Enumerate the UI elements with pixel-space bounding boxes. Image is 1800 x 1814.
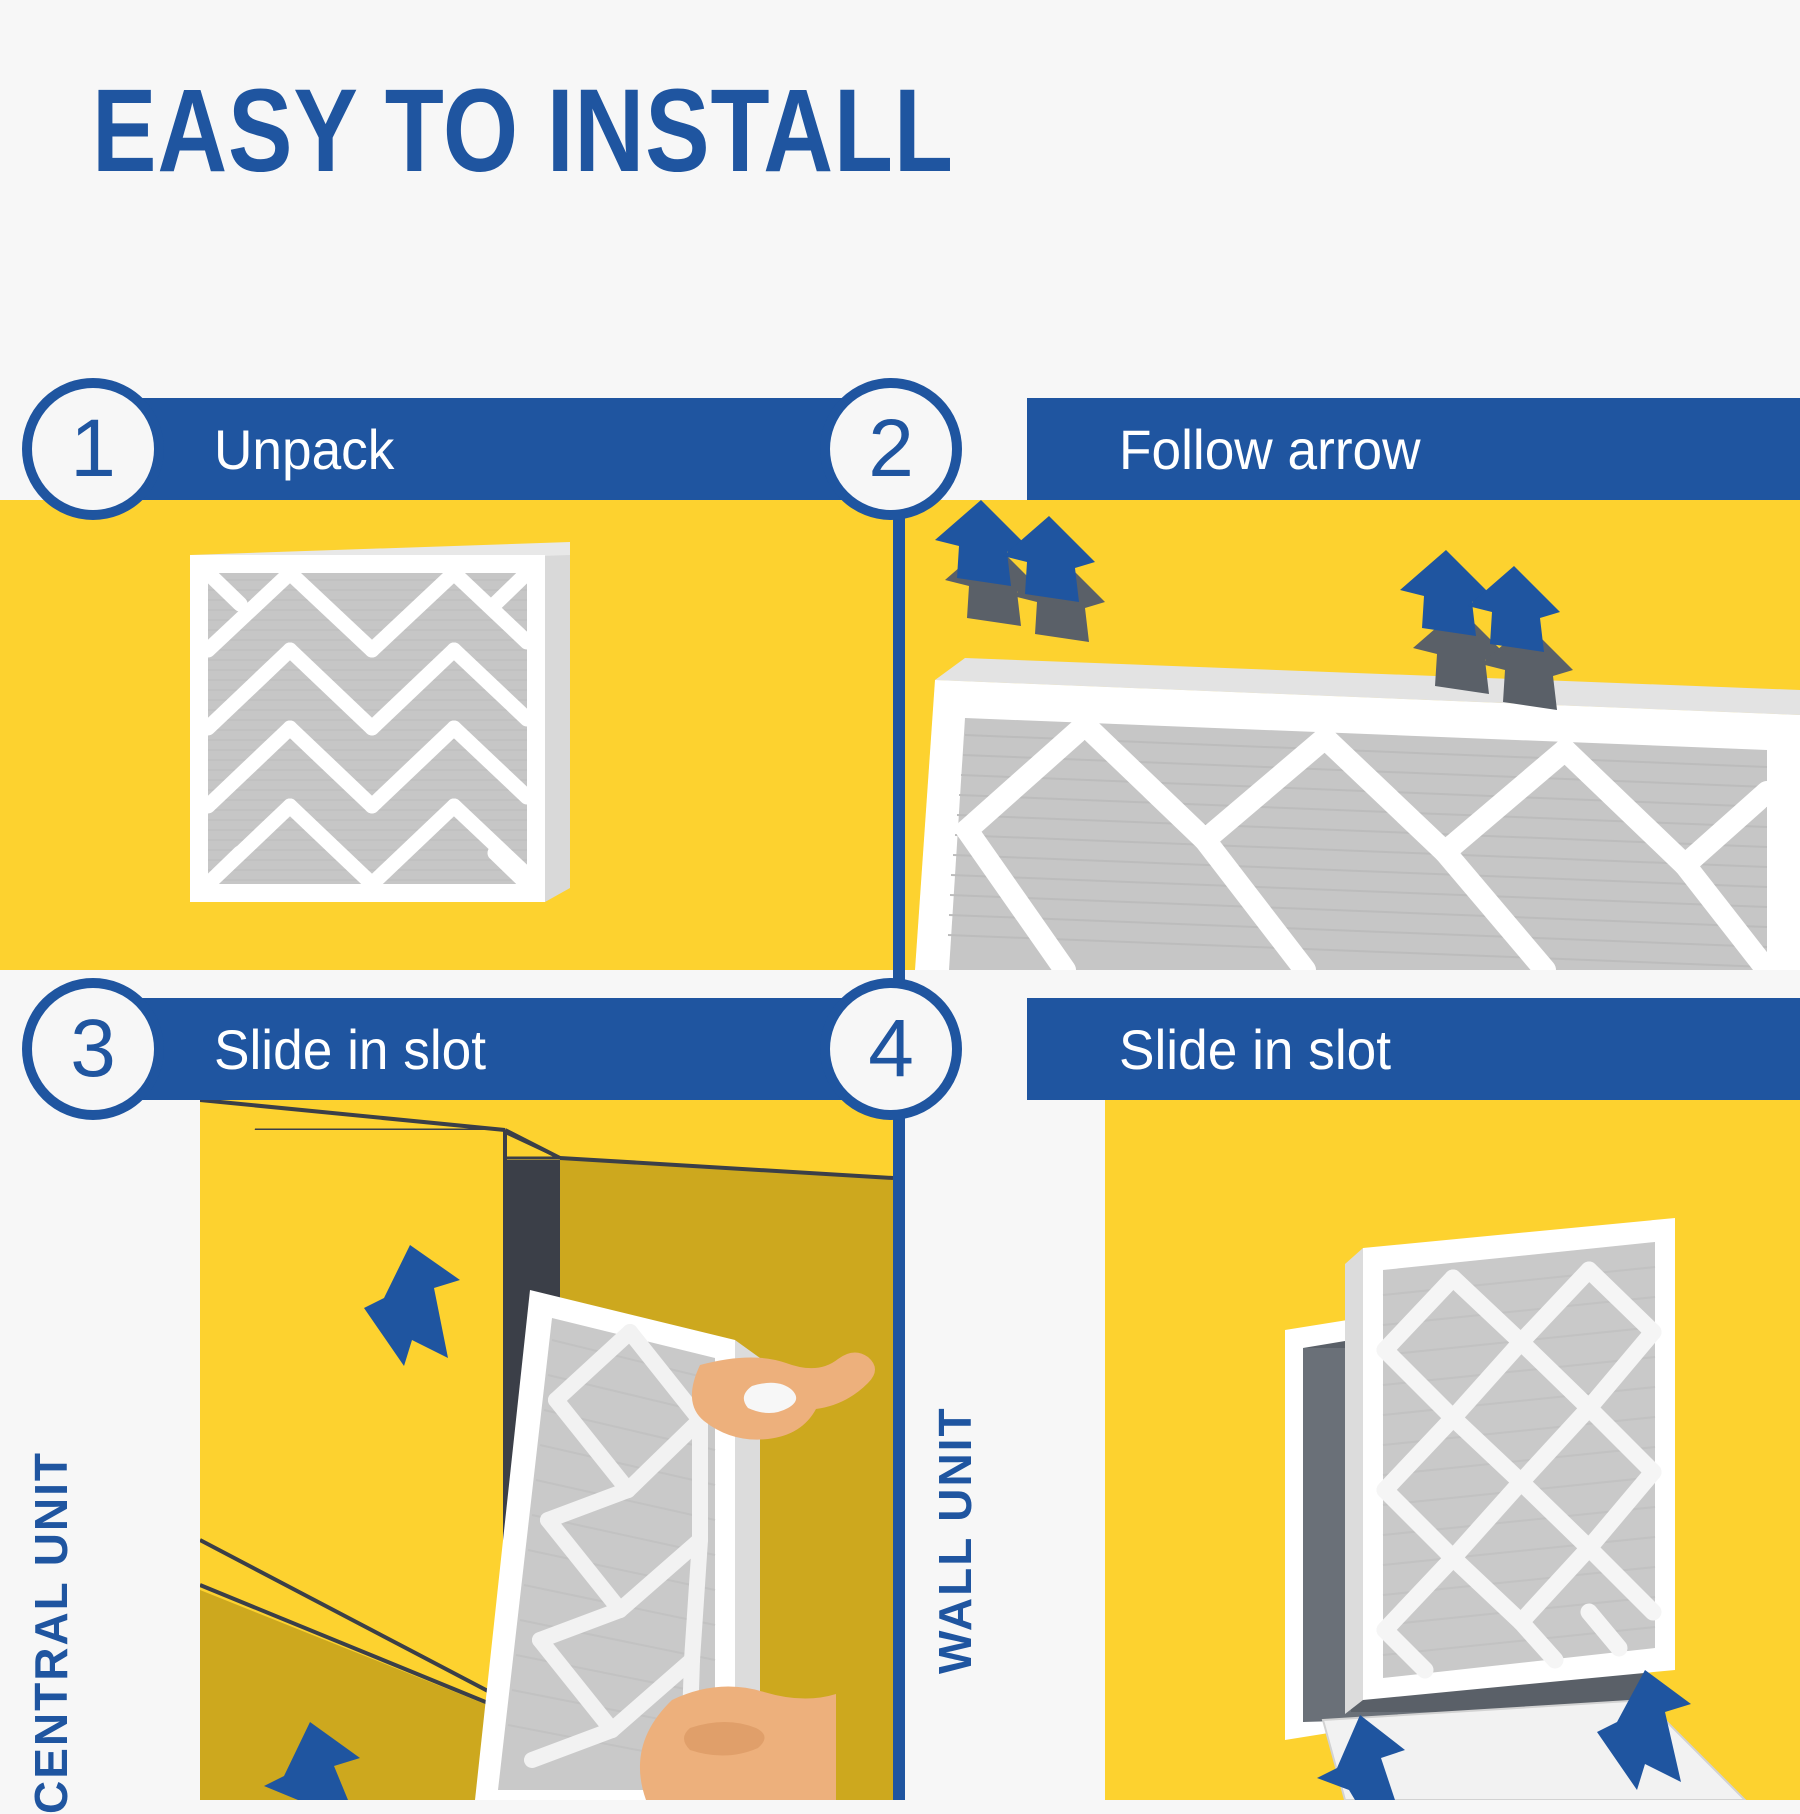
step-4-side-label: WALL UNIT [928,1406,982,1674]
column-divider [893,500,905,1800]
step-2-label: Follow arrow [1119,417,1421,482]
step-1-label: Unpack [214,417,394,482]
step-4-header: Slide in slot [1027,998,1800,1100]
filter-front-illustration [0,500,893,970]
step-4-badge: 4 [820,978,962,1120]
step-1-panel [0,500,893,970]
step-2-header: Follow arrow [1027,398,1800,500]
step-1-header: Unpack [122,398,893,500]
step-1-badge: 1 [22,378,164,520]
step-2-panel [905,500,1800,970]
filter-angled-airflow-illustration [905,500,1800,970]
page-title: EASY TO INSTALL [92,72,954,190]
step-3-side-label: CENTRAL UNIT [24,1451,78,1814]
filter-in-wall-vent [1345,1218,1675,1714]
hand-lower [640,1687,836,1800]
step-3-header: Slide in slot [122,998,893,1100]
step-3-badge: 3 [22,978,164,1120]
step-4-label: Slide in slot [1119,1017,1391,1082]
step-2-badge: 2 [820,378,962,520]
step-3-label: Slide in slot [214,1017,486,1082]
